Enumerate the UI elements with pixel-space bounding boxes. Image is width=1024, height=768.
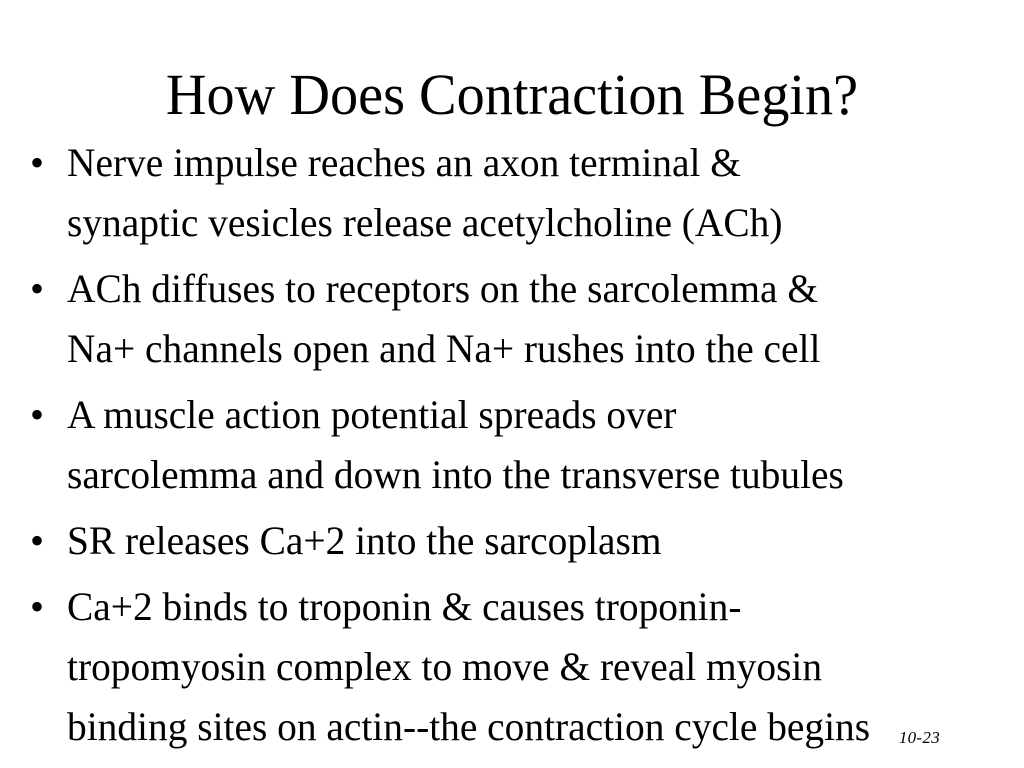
bullet-line: Ca+2 binds to troponin & causes troponin…: [67, 577, 998, 637]
bullet-item: • ACh diffuses to receptors on the sarco…: [22, 259, 1012, 379]
slide-title: How Does Contraction Begin?: [15, 63, 1008, 128]
bullet-line: tropomyosin complex to move & reveal myo…: [67, 637, 998, 697]
bullet-item-text: A muscle action potential spreads over s…: [67, 385, 998, 505]
bullet-item: • A muscle action potential spreads over…: [22, 385, 1012, 505]
bullet-point-icon: •: [30, 259, 58, 319]
bullet-item-text: Nerve impulse reaches an axon terminal &…: [67, 133, 998, 253]
bullet-item: • SR releases Ca+2 into the sarcoplasm: [22, 511, 1012, 571]
bullet-item-text: ACh diffuses to receptors on the sarcole…: [67, 259, 998, 379]
bullet-line: binding sites on actin--the contraction …: [67, 697, 998, 757]
presentation-slide: How Does Contraction Begin? • Nerve impu…: [0, 0, 1024, 768]
bullet-point-icon: •: [30, 511, 58, 571]
bullet-line: synaptic vesicles release acetylcholine …: [67, 193, 998, 253]
bullet-line: SR releases Ca+2 into the sarcoplasm: [67, 511, 998, 571]
page-number: 10-23: [899, 729, 940, 746]
bullet-item: • Nerve impulse reaches an axon terminal…: [22, 133, 1012, 253]
bullet-line: sarcolemma and down into the transverse …: [67, 445, 998, 505]
bullet-point-icon: •: [30, 385, 58, 445]
bullet-item: • Ca+2 binds to troponin & causes tropon…: [22, 577, 1012, 757]
bullet-point-icon: •: [30, 577, 58, 637]
bullet-line: ACh diffuses to receptors on the sarcole…: [67, 259, 998, 319]
bullet-list: • Nerve impulse reaches an axon terminal…: [22, 133, 1012, 757]
bullet-item-text: Ca+2 binds to troponin & causes troponin…: [67, 577, 998, 757]
bullet-point-icon: •: [30, 133, 58, 193]
bullet-line: A muscle action potential spreads over: [67, 385, 998, 445]
bullet-line: Na+ channels open and Na+ rushes into th…: [67, 319, 998, 379]
bullet-line: Nerve impulse reaches an axon terminal &: [67, 133, 998, 193]
bullet-item-text: SR releases Ca+2 into the sarcoplasm: [67, 511, 998, 571]
